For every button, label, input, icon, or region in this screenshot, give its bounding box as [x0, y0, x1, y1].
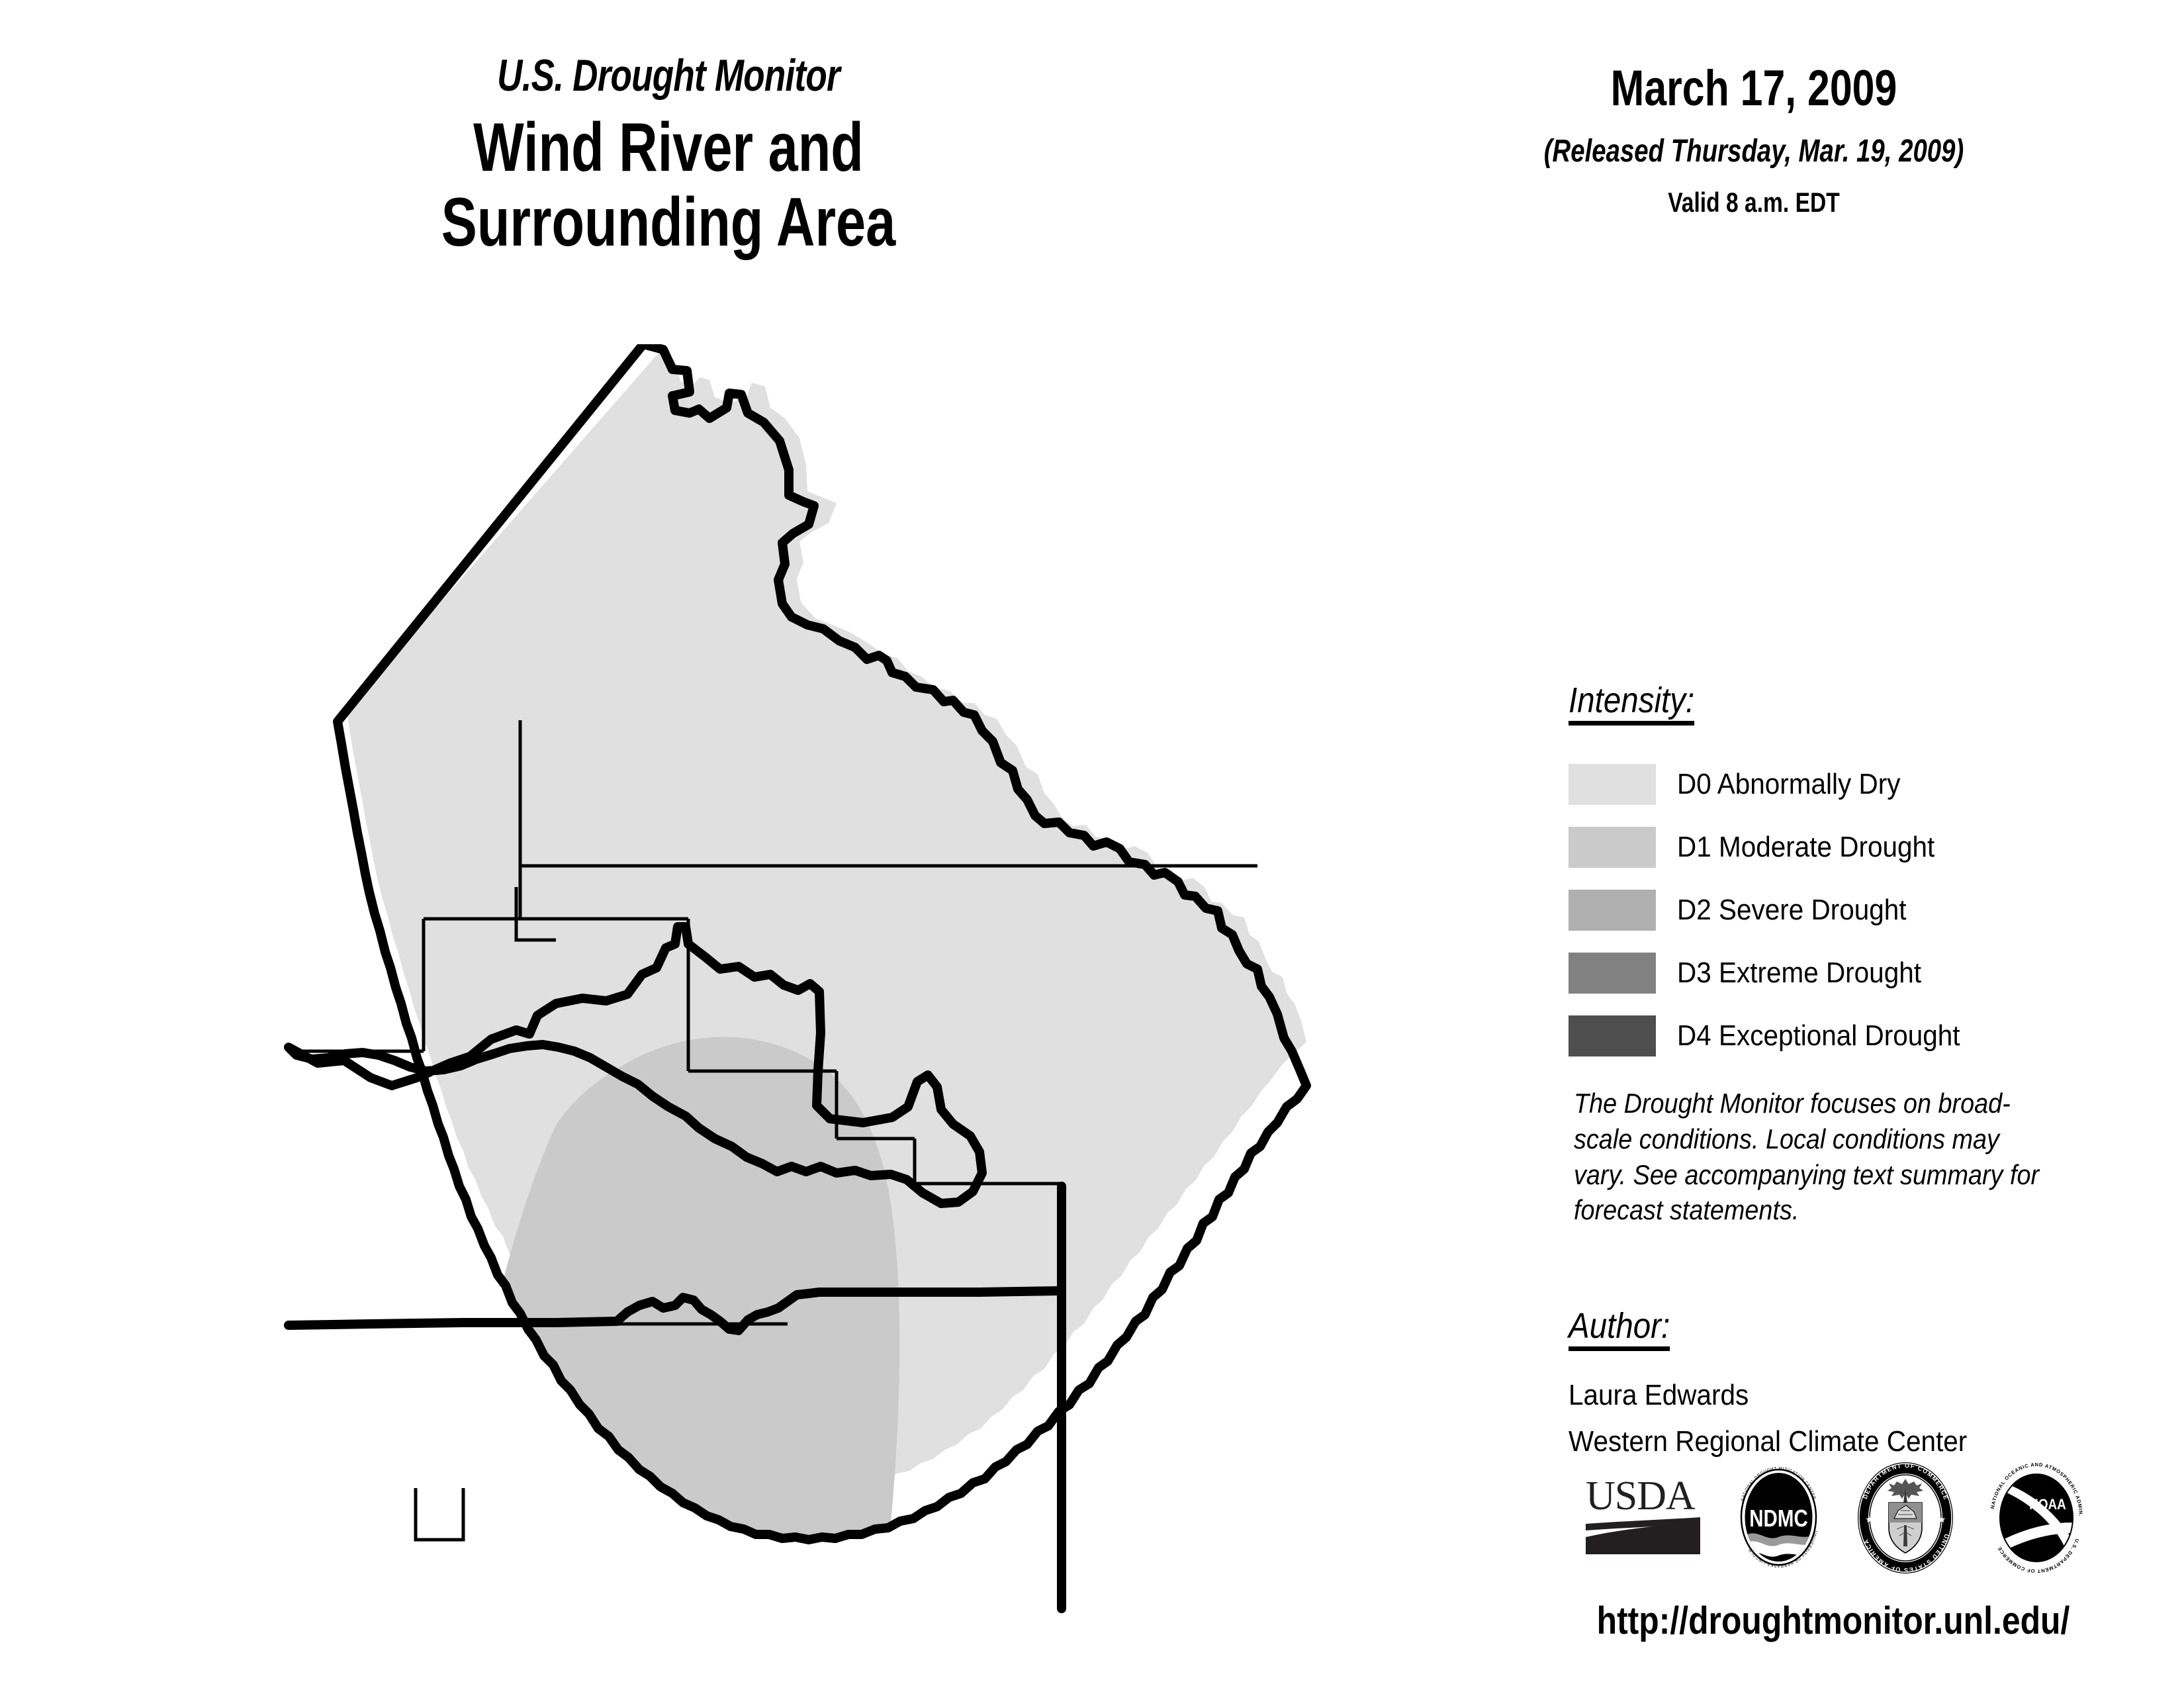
svg-text:★: ★: [1865, 1514, 1874, 1524]
legend-label-d3: D3 Extreme Drought: [1677, 957, 1921, 990]
legend-swatch-d2: [1569, 890, 1656, 931]
author-block: Author: Laura Edwards Western Regional C…: [1569, 1307, 2091, 1458]
valid-time: Valid 8 a.m. EDT: [1505, 187, 2003, 218]
svg-text:NOAA: NOAA: [2029, 1496, 2066, 1513]
legend-swatch-d0: [1569, 764, 1656, 805]
page-title: Wind River and Surrounding Area: [302, 111, 1035, 259]
logo-row: USDA NDMC NATIONAL DROUGHT MITI: [1582, 1466, 2098, 1572]
legend-swatch-d3: [1569, 953, 1656, 994]
svg-text:★: ★: [1938, 1514, 1946, 1524]
author-affiliation: Western Regional Climate Center: [1569, 1425, 2050, 1458]
svg-text:NDMC: NDMC: [1749, 1505, 1808, 1531]
usda-logo[interactable]: USDA: [1582, 1468, 1704, 1571]
title-block: U.S. Drought Monitor Wind River and Surr…: [199, 53, 1138, 259]
legend-item-d3[interactable]: D3 Extreme Drought: [1569, 942, 2071, 1005]
author-heading: Author:: [1569, 1307, 1670, 1351]
release-date: (Released Thursday, Mar. 19, 2009): [1505, 133, 2003, 169]
disclaimer-note: The Drought Monitor focuses on broad-sca…: [1574, 1086, 2044, 1228]
legend-swatch-d4: [1569, 1015, 1656, 1056]
legend-label-d1: D1 Moderate Drought: [1677, 831, 1934, 864]
ndmc-logo[interactable]: NDMC NATIONAL DROUGHT MITIGATION CENTER …: [1731, 1463, 1827, 1575]
legend: Intensity: D0 Abnormally Dry D1 Moderate…: [1569, 682, 2071, 1068]
region-title-line-1: Wind River and: [302, 111, 1035, 185]
map-canvas[interactable]: [93, 344, 1482, 1615]
svg-text:USDA: USDA: [1586, 1474, 1696, 1519]
legend-heading: Intensity:: [1569, 682, 1694, 726]
legend-label-d0: D0 Abnormally Dry: [1677, 768, 1900, 801]
doc-seal[interactable]: DEPARTMENT OF COMMERCE UNITED STATES OF …: [1853, 1462, 1958, 1577]
date-block: March 17, 2009 (Released Thursday, Mar. …: [1443, 60, 2065, 218]
legend-label-d2: D2 Severe Drought: [1677, 894, 1907, 927]
region-title-line-2: Surrounding Area: [302, 185, 1035, 259]
noaa-logo[interactable]: NOAA NATIONAL OCEANIC AND ATMOSPHERIC AD…: [1984, 1462, 2089, 1577]
legend-item-d2[interactable]: D2 Severe Drought: [1569, 879, 2071, 942]
drought-map[interactable]: [93, 344, 1482, 1615]
legend-item-d1[interactable]: D1 Moderate Drought: [1569, 816, 2071, 879]
author-name: Laura Edwards: [1569, 1379, 2050, 1412]
legend-rows: D0 Abnormally Dry D1 Moderate Drought D2…: [1569, 753, 2071, 1068]
legend-swatch-d1: [1569, 827, 1656, 868]
program-title: U.S. Drought Monitor: [302, 53, 1035, 99]
website-url[interactable]: http://droughtmonitor.unl.edu/: [1583, 1599, 2084, 1643]
valid-date: March 17, 2009: [1505, 60, 2003, 117]
legend-item-d4[interactable]: D4 Exceptional Drought: [1569, 1005, 2071, 1068]
legend-label-d4: D4 Exceptional Drought: [1677, 1019, 1960, 1053]
legend-item-d0[interactable]: D0 Abnormally Dry: [1569, 753, 2071, 816]
